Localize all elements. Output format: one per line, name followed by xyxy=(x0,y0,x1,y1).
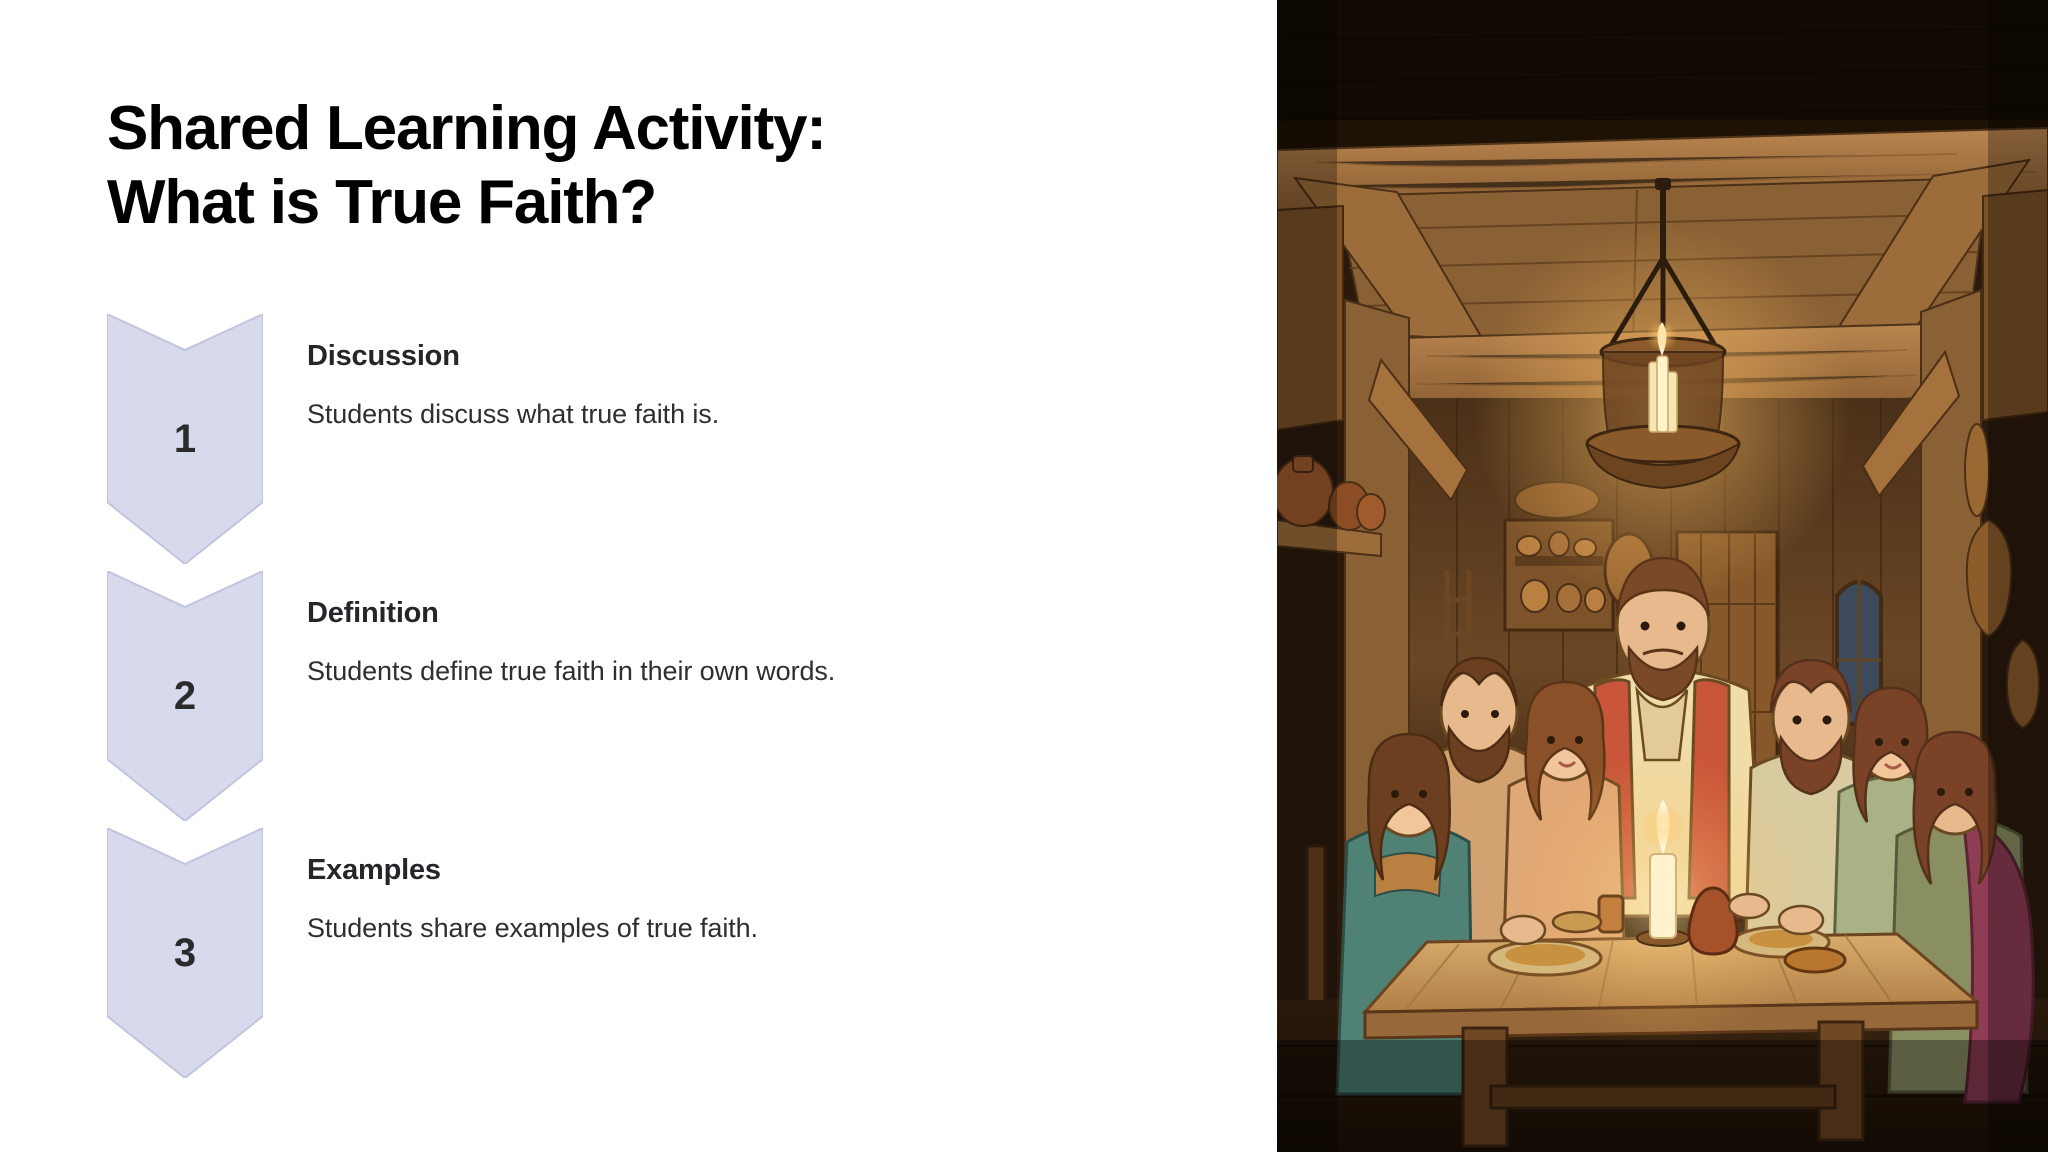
slide-root: Shared Learning Activity: What is True F… xyxy=(0,0,2048,1152)
step-description: Students share examples of true faith. xyxy=(307,913,1187,944)
step-description: Students define true faith in their own … xyxy=(307,656,1187,687)
list-item: 2 Definition Students define true faith … xyxy=(107,571,1207,828)
step-number: 1 xyxy=(107,314,263,564)
list-item: 1 Discussion Students discuss what true … xyxy=(107,314,1207,571)
step-heading: Examples xyxy=(307,854,1187,887)
steps-list: 1 Discussion Students discuss what true … xyxy=(107,314,1207,1078)
illustration-pane xyxy=(1277,0,2048,1152)
step-heading: Definition xyxy=(307,597,1187,630)
step-text-block: Examples Students share examples of true… xyxy=(307,854,1187,944)
step-text-block: Discussion Students discuss what true fa… xyxy=(307,340,1187,430)
step-text-block: Definition Students define true faith in… xyxy=(307,597,1187,687)
step-number: 3 xyxy=(107,828,263,1078)
last-supper-tavern-illustration xyxy=(1277,0,2048,1152)
content-pane: Shared Learning Activity: What is True F… xyxy=(0,0,1277,1152)
step-description: Students discuss what true faith is. xyxy=(307,399,1187,430)
step-heading: Discussion xyxy=(307,340,1187,373)
list-item: 3 Examples Students share examples of tr… xyxy=(107,828,1207,1078)
page-title: Shared Learning Activity: What is True F… xyxy=(107,92,1107,240)
step-number: 2 xyxy=(107,571,263,821)
